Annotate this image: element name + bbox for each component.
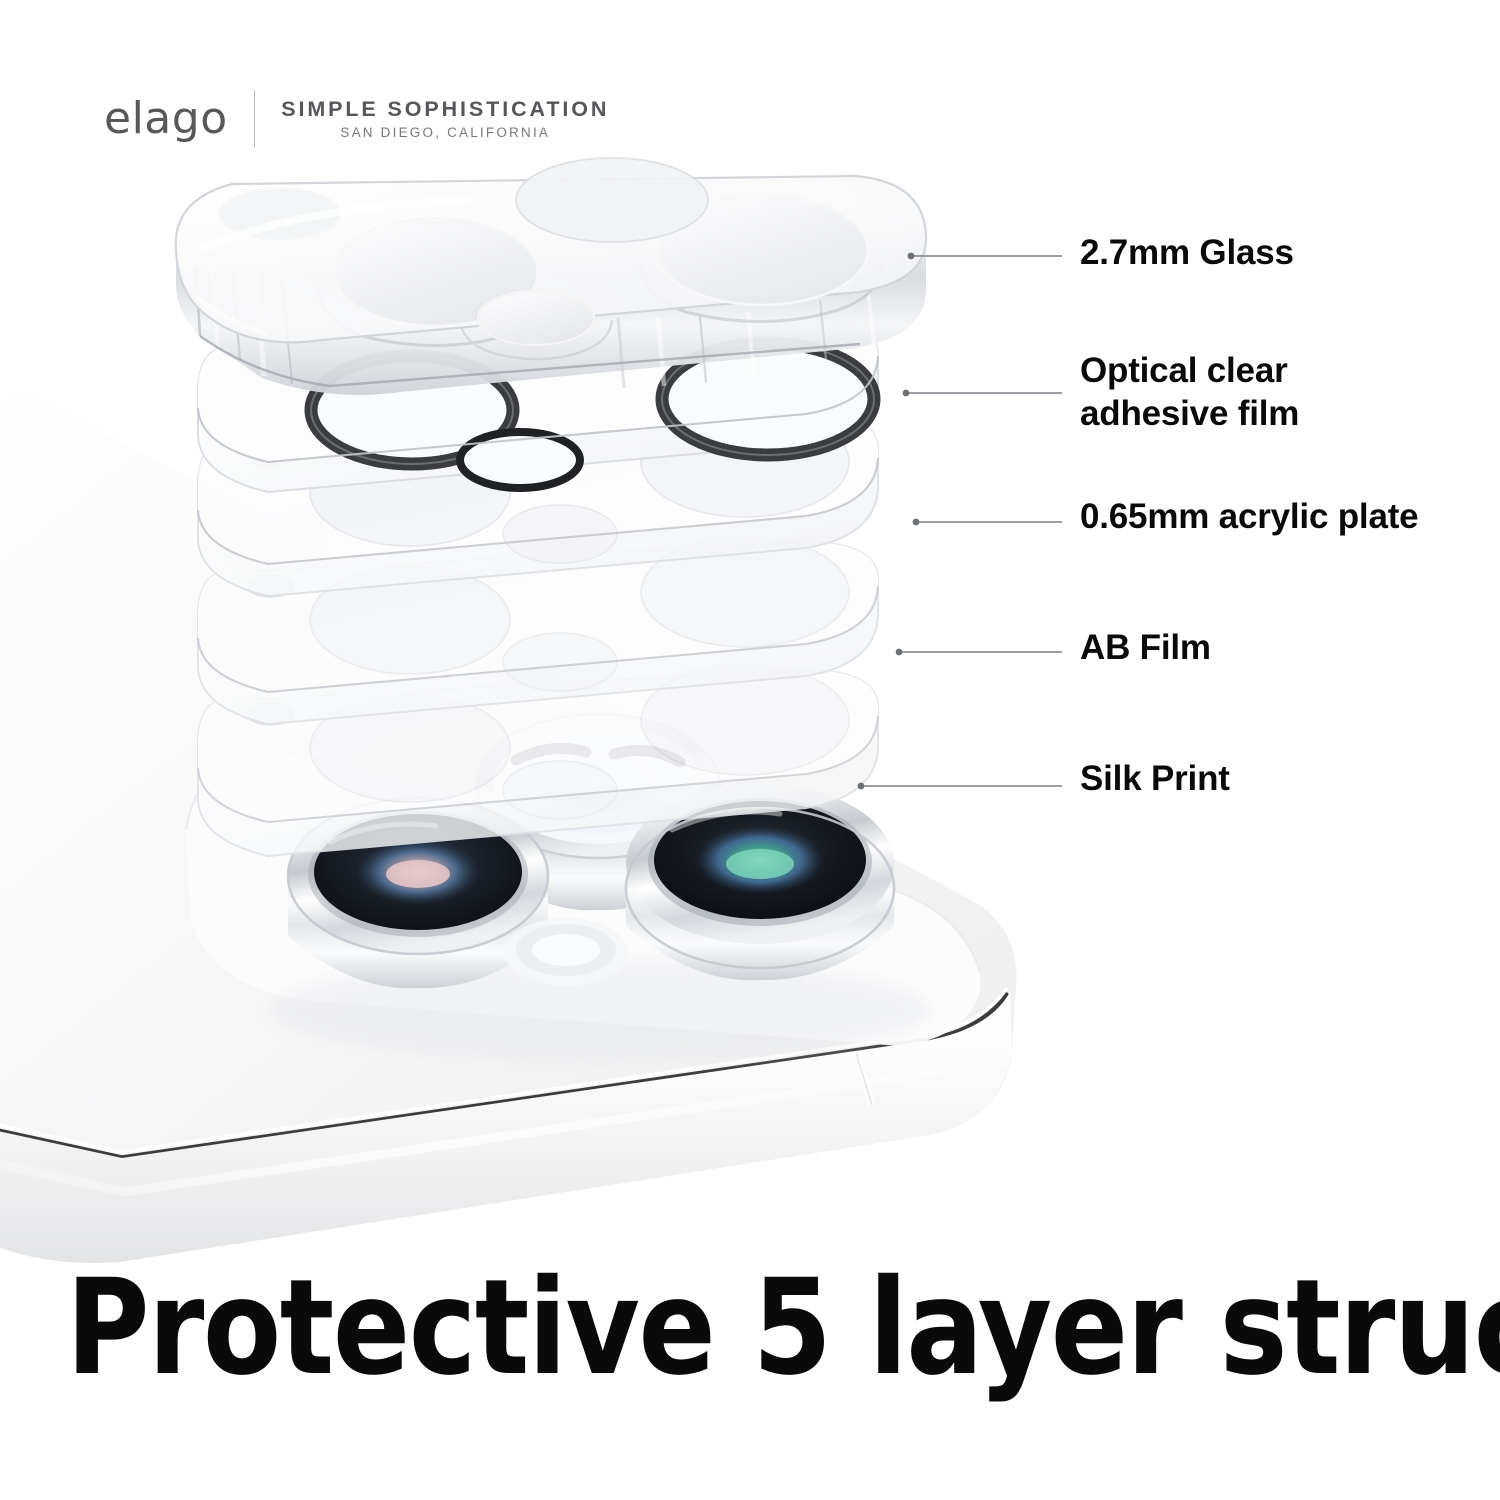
camera-flash: [504, 918, 628, 986]
brand-tagline-block: SIMPLE SOPHISTICATION SAN DIEGO, CALIFOR…: [281, 99, 609, 139]
leader-line-silk: [858, 783, 1062, 790]
callout-label-abfilm: AB Film: [1080, 627, 1211, 670]
vertical-divider-icon: [254, 90, 256, 148]
brand-header: elago SIMPLE SOPHISTICATION SAN DIEGO, C…: [104, 88, 609, 150]
leader-line-acrylic: [913, 519, 1062, 526]
leader-line-adhesive: [903, 390, 1062, 397]
leader-line-glass: [908, 253, 1062, 260]
callout-label-silk: Silk Print: [1080, 758, 1230, 801]
leader-line-abfilm: [896, 649, 1062, 656]
headline: Protective 5 layer structure: [66, 1262, 1410, 1394]
brand-logo: elago: [104, 97, 228, 141]
brand-tagline: SIMPLE SOPHISTICATION: [281, 99, 609, 121]
callout-label-glass: 2.7mm Glass: [1080, 232, 1294, 275]
callout-label-acrylic: 0.65mm acrylic plate: [1080, 496, 1418, 539]
brand-location: SAN DIEGO, CALIFORNIA: [340, 126, 550, 140]
callout-label-adhesive: Optical clear adhesive film: [1080, 350, 1299, 435]
